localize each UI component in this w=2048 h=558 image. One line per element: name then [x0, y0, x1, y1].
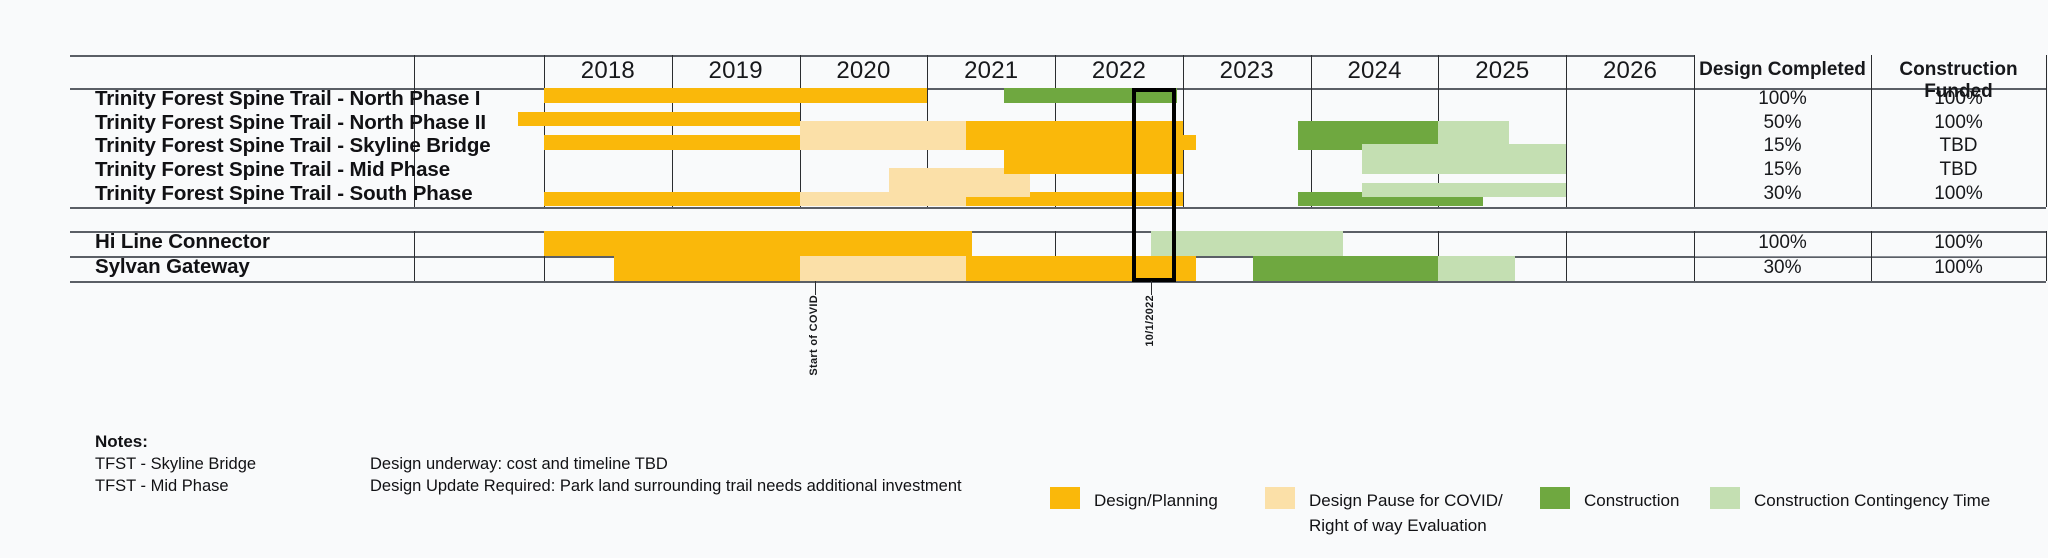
header-year-2025: 2025	[1438, 57, 1566, 85]
design-completed-value-0: 100%	[1694, 88, 1871, 110]
row-label-3: Trinity Forest Spine Trail - Mid Phase	[95, 158, 450, 182]
row-label-6: Sylvan Gateway	[95, 255, 250, 279]
header-design-completed: Design Completed	[1694, 59, 1871, 81]
bar-design-row4	[544, 192, 800, 207]
bar-covid_pause-row2	[800, 135, 966, 150]
legend-label-0: Design/Planning	[1094, 488, 1218, 514]
bar-covid_pause-row6	[800, 256, 966, 281]
header-year-2024: 2024	[1311, 57, 1439, 85]
header-year-2020: 2020	[800, 57, 928, 85]
annotation-line-0	[815, 281, 817, 295]
design-completed-value-3: 15%	[1694, 159, 1871, 181]
legend-label-3: Construction Contingency Time	[1754, 488, 1990, 514]
bar-design-row5	[544, 231, 972, 256]
bar-contingency-row2	[1362, 144, 1566, 159]
construction-funded-value-1: 100%	[1871, 112, 2046, 134]
bar-design-row2	[544, 135, 800, 150]
legend-swatch-2	[1540, 487, 1570, 509]
header-year-2021: 2021	[927, 57, 1055, 85]
legend-label-1-line2: Right of way Evaluation	[1309, 513, 1487, 539]
grid-line-year-lower-2026	[1566, 231, 1567, 281]
notes-title: Notes:	[95, 432, 148, 452]
design-completed-value-6: 30%	[1694, 257, 1871, 279]
row-label-0: Trinity Forest Spine Trail - North Phase…	[95, 87, 480, 111]
annotation-label-1: 10/1/2022	[1144, 295, 1156, 347]
header-year-2026: 2026	[1566, 57, 1694, 85]
bar-design-row6	[614, 256, 799, 281]
header-year-2018: 2018	[544, 57, 672, 85]
header-year-2022: 2022	[1055, 57, 1183, 85]
annotation-label-0: Start of COVID	[808, 295, 820, 376]
legend-swatch-3	[1710, 487, 1740, 509]
design-completed-value-1: 50%	[1694, 112, 1871, 134]
row-label-1: Trinity Forest Spine Trail - North Phase…	[95, 111, 486, 135]
notes-subject-0: TFST - Skyline Bridge	[95, 455, 256, 474]
bar-design-row6	[966, 256, 1196, 281]
construction-funded-value-2: TBD	[1871, 135, 2046, 157]
notes-subject-1: TFST - Mid Phase	[95, 477, 229, 496]
legend-label-1: Design Pause for COVID/	[1309, 488, 1503, 514]
row-label-4: Trinity Forest Spine Trail - South Phase	[95, 182, 473, 206]
notes-detail-1: Design Update Required: Park land surrou…	[370, 477, 962, 496]
bar-construction-row6	[1253, 256, 1438, 281]
bar-design-row1	[518, 112, 799, 127]
bar-contingency-row1	[1438, 121, 1508, 136]
label-column-divider-lower	[414, 231, 415, 281]
row-label-2: Trinity Forest Spine Trail - Skyline Bri…	[95, 134, 491, 158]
right-column-divider-lower-2	[2046, 231, 2047, 281]
construction-funded-value-4: 100%	[1871, 183, 2046, 205]
construction-funded-value-5: 100%	[1871, 232, 2046, 254]
design-completed-value-2: 15%	[1694, 135, 1871, 157]
block1-bottom-rule	[70, 207, 2046, 209]
legend-swatch-1	[1265, 487, 1295, 509]
header-year-2023: 2023	[1183, 57, 1311, 85]
legend-swatch-0	[1050, 487, 1080, 509]
gantt-chart: 201820192020202120222023202420252026Desi…	[0, 0, 2048, 558]
bar-construction-row0	[1004, 88, 1177, 103]
bar-design-row1	[966, 121, 1183, 136]
legend-label-2: Construction	[1584, 488, 1679, 514]
bar-design-row0	[544, 88, 927, 103]
block2-bottom-rule	[70, 281, 2046, 283]
bar-covid_pause-row4	[889, 183, 1030, 198]
design-completed-value-4: 30%	[1694, 183, 1871, 205]
bar-design-row3	[1004, 159, 1183, 174]
bar-contingency-row3	[1362, 159, 1566, 174]
design-completed-value-5: 100%	[1694, 232, 1871, 254]
row-label-5: Hi Line Connector	[95, 230, 270, 254]
bar-construction-row1	[1298, 121, 1439, 136]
bar-contingency-row5	[1151, 231, 1343, 256]
construction-funded-value-0: 100%	[1871, 88, 2046, 110]
bar-design-row2	[1004, 144, 1183, 159]
header-year-2019: 2019	[672, 57, 800, 85]
right-column-divider-2	[2046, 55, 2047, 207]
notes-detail-0: Design underway: cost and timeline TBD	[370, 455, 668, 474]
bar-contingency-row6	[1438, 256, 1515, 281]
bar-contingency-row4	[1362, 183, 1566, 198]
construction-funded-value-6: 100%	[1871, 257, 2046, 279]
annotation-line-1	[1151, 281, 1153, 295]
construction-funded-value-3: TBD	[1871, 159, 2046, 181]
bar-covid_pause-row1	[800, 121, 966, 136]
